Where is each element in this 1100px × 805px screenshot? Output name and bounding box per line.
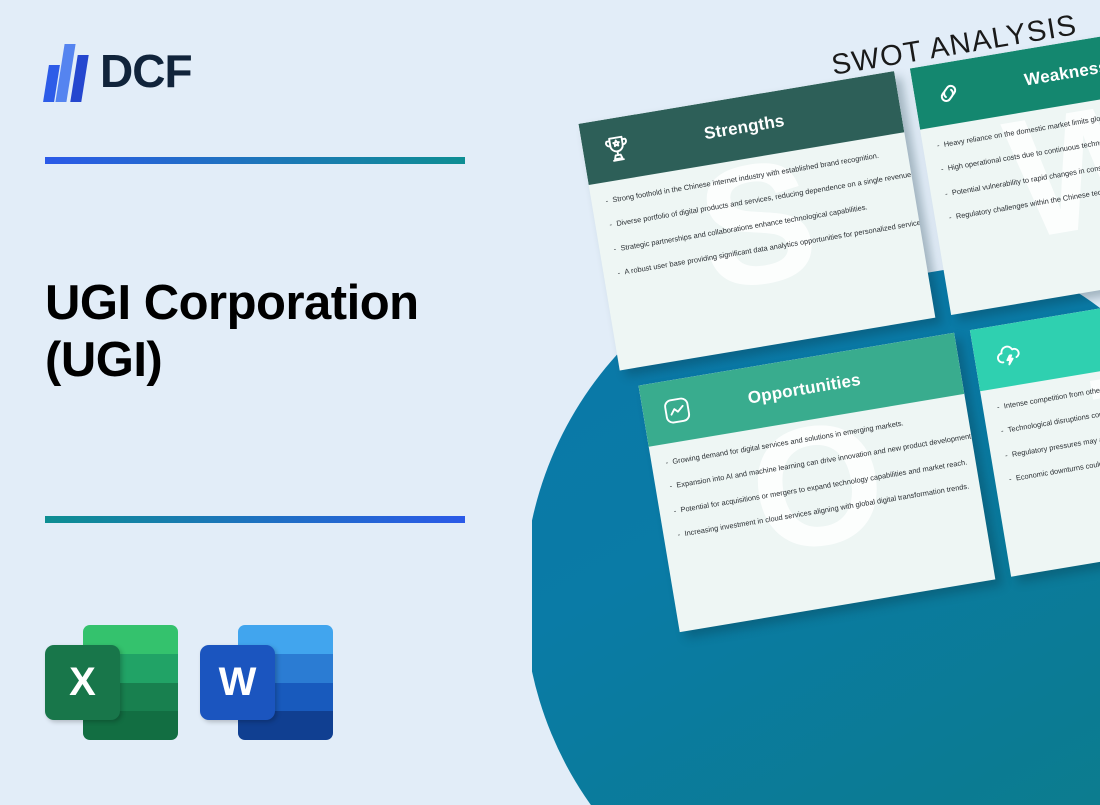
trend-chart-icon (659, 392, 696, 429)
swot-card-threats[interactable]: Threats T Intense competition from other… (970, 277, 1100, 576)
link-chain-icon (930, 75, 967, 112)
file-download-icons: X W (45, 620, 333, 745)
trophy-icon (599, 130, 636, 167)
page-title: UGI Corporation (UGI) (45, 275, 505, 389)
divider-bottom (45, 516, 465, 523)
word-badge-letter: W (200, 645, 275, 720)
dcf-bars-logo-icon (45, 40, 87, 102)
brand-logo: DCF (45, 40, 192, 102)
storm-cloud-icon (990, 337, 1027, 374)
excel-badge-letter: X (45, 645, 120, 720)
excel-file-icon[interactable]: X (45, 620, 178, 745)
swot-illustration: SWOT ANALYSIS Strengths S (532, 0, 1100, 805)
word-file-icon[interactable]: W (200, 620, 333, 745)
swot-card-opportunities[interactable]: Opportunities O Growing demand for digit… (638, 333, 995, 632)
divider-top (45, 157, 465, 164)
swot-grid: Strengths S Strong foothold in the Chine… (578, 18, 1100, 646)
card-title-threats: Threats (1023, 298, 1100, 362)
swot-card-strengths[interactable]: Strengths S Strong foothold in the Chine… (578, 71, 935, 370)
brand-name: DCF (100, 44, 192, 98)
